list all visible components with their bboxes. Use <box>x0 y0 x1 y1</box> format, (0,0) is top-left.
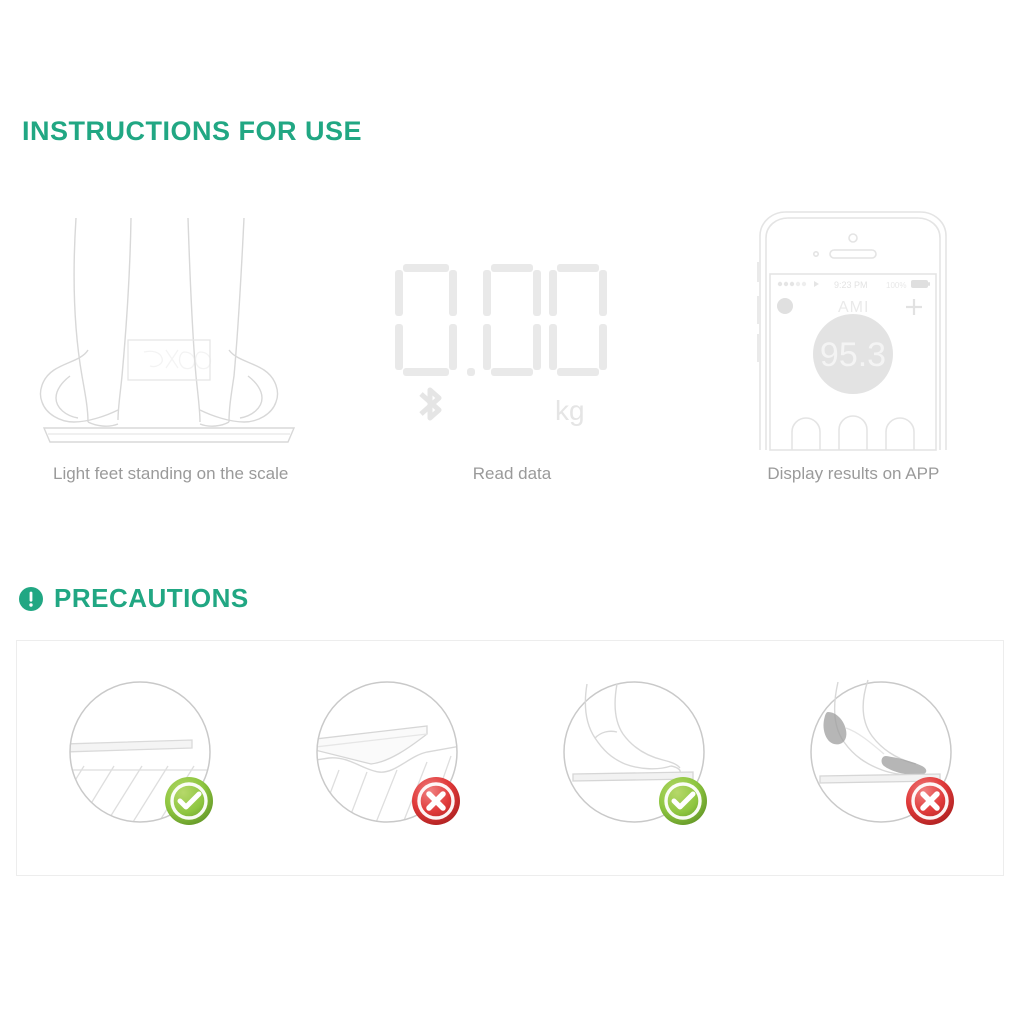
instruction-caption-2: Read data <box>473 464 551 484</box>
instruction-caption-1: Light feet standing on the scale <box>53 464 288 484</box>
svg-text:100%: 100% <box>886 281 906 290</box>
cross-badge-icon <box>906 777 954 825</box>
check-badge-icon <box>165 777 213 825</box>
feet-on-scale-illustration <box>26 200 316 450</box>
instructions-heading: INSTRUCTIONS FOR USE <box>22 116 362 147</box>
lcd-display-illustration: kg <box>387 200 637 450</box>
precautions-row <box>17 655 1005 855</box>
instruction-caption-3: Display results on APP <box>767 464 939 484</box>
phone-app-illustration: 9:23 PM 100% AMI 95.3 <box>738 200 968 450</box>
svg-text:9:23 PM: 9:23 PM <box>834 280 868 290</box>
scale-on-soft-uneven-floor-illustration <box>300 668 475 843</box>
alert-circle-icon <box>18 586 44 612</box>
precautions-heading-label: PRECAUTIONS <box>54 583 249 614</box>
instruction-step-3: 9:23 PM 100% AMI 95.3 <box>683 200 1024 510</box>
svg-text:kg: kg <box>555 395 585 426</box>
bare-foot-on-scale-illustration <box>547 668 722 843</box>
precaution-item-4 <box>758 668 1005 843</box>
instruction-step-2: kg Read data <box>341 200 682 510</box>
precaution-item-1 <box>17 668 264 843</box>
precautions-heading: PRECAUTIONS <box>18 583 249 614</box>
svg-text:AMI: AMI <box>838 299 869 316</box>
instruction-step-1: Light feet standing on the scale <box>0 200 341 510</box>
scale-on-hard-floor-illustration <box>53 668 228 843</box>
instruction-sheet: INSTRUCTIONS FOR USE <box>0 0 1024 1024</box>
instructions-row: Light feet standing on the scale <box>0 200 1024 510</box>
precaution-item-2 <box>264 668 511 843</box>
svg-text:95.3: 95.3 <box>820 336 886 374</box>
socked-foot-on-scale-illustration <box>794 668 969 843</box>
precautions-panel <box>16 640 1004 876</box>
check-badge-icon <box>659 777 707 825</box>
cross-badge-icon <box>412 777 460 825</box>
precaution-item-3 <box>511 668 758 843</box>
